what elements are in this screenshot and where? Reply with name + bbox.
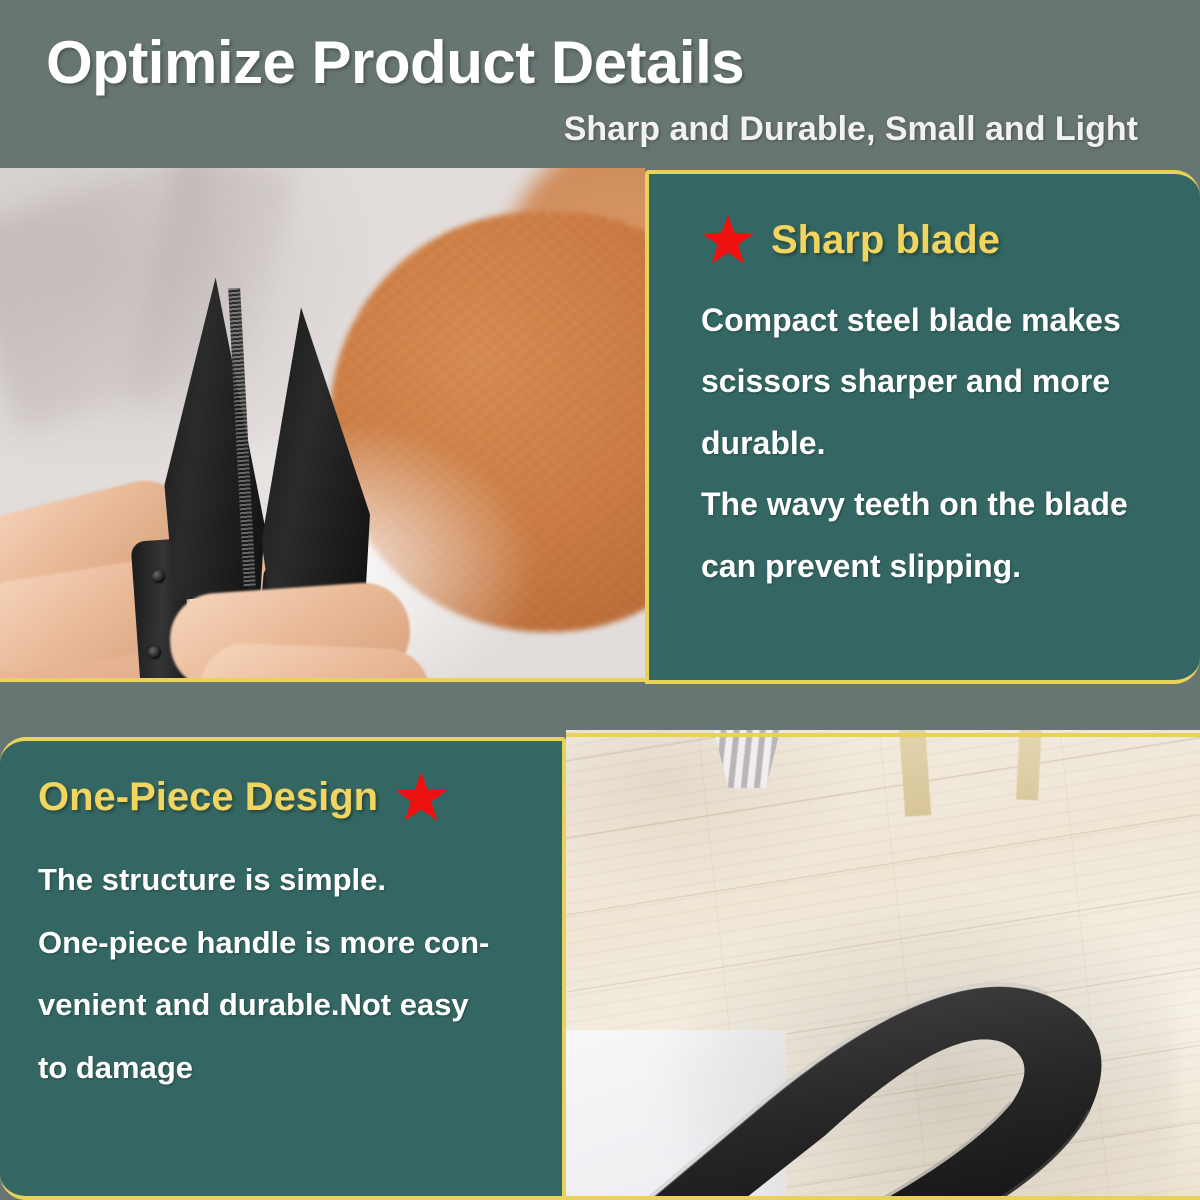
feature-panel-sharp-blade: Sharp blade Compact steel blade makes sc… [645, 170, 1200, 684]
feature-heading-row: One-Piece Design [38, 771, 542, 823]
scissors-in-hand-photo [0, 168, 645, 682]
rivet [148, 646, 161, 659]
feature-body-line: Compact steel blade makes [701, 290, 1166, 351]
panel-border-stripe-top-row [0, 678, 649, 682]
feature-panel-one-piece-design: One-Piece Design The structure is simple… [0, 737, 566, 1200]
feature-body-line: One-piece handle is more con- [38, 912, 542, 975]
feature-body-line: scissors sharper and more [701, 351, 1166, 412]
feature-body-line: to damage [38, 1037, 542, 1100]
panel-border-stripe-bottom-row [566, 733, 1200, 737]
feature-body-line: The structure is simple. [38, 849, 542, 912]
feature-heading-row: Sharp blade [701, 214, 1166, 266]
feature-body-line: can prevent slipping. [701, 536, 1166, 597]
star-icon [394, 771, 448, 823]
u-shaped-handle [614, 843, 1181, 1200]
star-icon [701, 214, 755, 266]
feature-heading: One-Piece Design [38, 775, 378, 820]
feature-body: Compact steel blade makes scissors sharp… [701, 290, 1166, 597]
feature-body-line: venient and durable.Not easy [38, 974, 542, 1037]
one-piece-handle-photo [566, 730, 1200, 1200]
panel-border-stripe-bottom-edge [566, 1196, 1200, 1200]
feature-heading: Sharp blade [771, 218, 1000, 263]
rivet [152, 570, 165, 583]
feature-body: The structure is simple. One-piece handl… [38, 849, 542, 1099]
feature-body-line: durable. [701, 413, 1166, 474]
page-title: Optimize Product Details [46, 28, 744, 97]
page-subtitle: Sharp and Durable, Small and Light [564, 110, 1138, 149]
wooden-furniture-leg [1016, 730, 1042, 801]
feature-body-line: The wavy teeth on the blade [701, 474, 1166, 535]
product-detail-infographic: Optimize Product Details Sharp and Durab… [0, 0, 1200, 1200]
header-banner: Optimize Product Details Sharp and Durab… [0, 0, 1200, 168]
